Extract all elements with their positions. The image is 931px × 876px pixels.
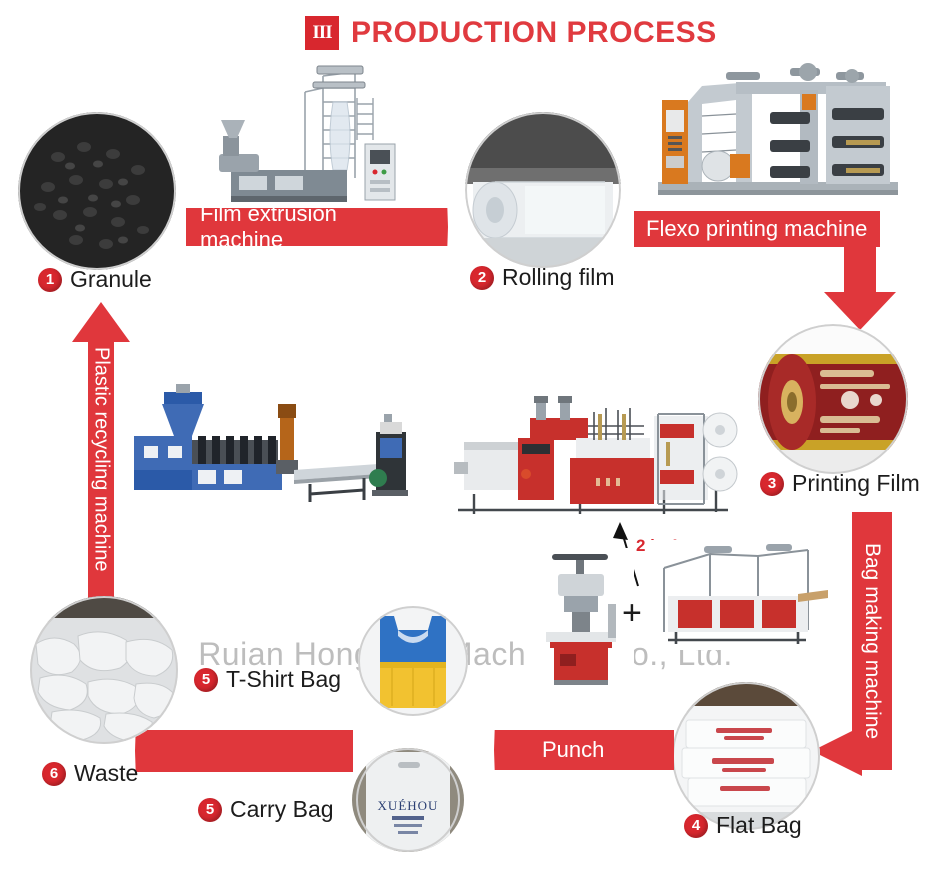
flexo-printing-machine-photo bbox=[640, 56, 915, 208]
step-number-badge: 1 bbox=[38, 268, 62, 292]
flexo-printing-arrow-label: Flexo printing machine bbox=[646, 216, 867, 242]
carry-bag-photo: XUÉHOU bbox=[352, 748, 464, 852]
punch-arrow: Punch bbox=[494, 730, 674, 770]
flat-bag-photo bbox=[672, 682, 820, 830]
step-label-waste: 6 Waste bbox=[42, 760, 138, 787]
svg-text:XUÉHOU: XUÉHOU bbox=[378, 798, 439, 813]
film-extrusion-machine-photo bbox=[205, 58, 410, 208]
step-label-printing-film: 3 Printing Film bbox=[760, 470, 920, 497]
step-number-badge: 2 bbox=[470, 266, 494, 290]
step-label-text: Carry Bag bbox=[230, 796, 334, 823]
side-seal-machine-photo bbox=[648, 540, 828, 650]
step-label-text: Granule bbox=[70, 266, 152, 293]
title-numeral-badge: III bbox=[305, 16, 339, 50]
step-label-granule: 1 Granule bbox=[38, 266, 152, 293]
punch-machine-photo bbox=[528, 548, 634, 686]
film-extrusion-arrow-label: Film extrusion machine bbox=[200, 208, 400, 246]
plus-sign: + bbox=[622, 594, 642, 633]
plastic-recycling-machine-photo bbox=[128, 378, 408, 514]
film-extrusion-arrow: Film extrusion machine bbox=[186, 208, 448, 246]
step-label-text: Waste bbox=[74, 760, 138, 787]
step-number-badge: 6 bbox=[42, 762, 66, 786]
granule-photo bbox=[18, 112, 176, 270]
tshirt-bag-photo bbox=[358, 606, 468, 716]
step-label-flat-bag: 4 Flat Bag bbox=[684, 812, 802, 839]
step-label-tshirt-bag: 5 T-Shirt Bag bbox=[194, 666, 341, 693]
step-label-text: Printing Film bbox=[792, 470, 920, 497]
step-number-badge: 3 bbox=[760, 472, 784, 496]
page-title-text: PRODUCTION PROCESS bbox=[351, 16, 717, 50]
printing-film-photo bbox=[758, 324, 908, 474]
step-label-text: Flat Bag bbox=[716, 812, 802, 839]
plastic-recycling-arrow-label-wrap: Plastic recycling machine bbox=[72, 318, 130, 600]
step-number-badge: 5 bbox=[198, 798, 222, 822]
bag-making-machine-photo bbox=[448, 382, 738, 528]
production-process-diagram: III PRODUCTION PROCESS Ruian Hongtong Ma… bbox=[0, 0, 931, 876]
plastic-recycling-arrow-label: Plastic recycling machine bbox=[90, 347, 113, 572]
step-number-badge: 4 bbox=[684, 814, 708, 838]
step-label-text: Rolling film bbox=[502, 264, 614, 291]
rolling-film-photo bbox=[465, 112, 621, 268]
step-label-text: T-Shirt Bag bbox=[226, 666, 341, 693]
flexo-printing-down-arrow bbox=[820, 240, 900, 332]
step-label-rolling-film: 2 Rolling film bbox=[470, 264, 614, 291]
waste-photo bbox=[30, 596, 178, 744]
punch-arrow-label: Punch bbox=[542, 737, 604, 763]
step-label-carry-bag: 5 Carry Bag bbox=[198, 796, 334, 823]
bag-making-arrow-label: Bag making machine bbox=[860, 543, 884, 739]
page-title: III PRODUCTION PROCESS bbox=[305, 16, 717, 50]
step-number-badge: 5 bbox=[194, 668, 218, 692]
